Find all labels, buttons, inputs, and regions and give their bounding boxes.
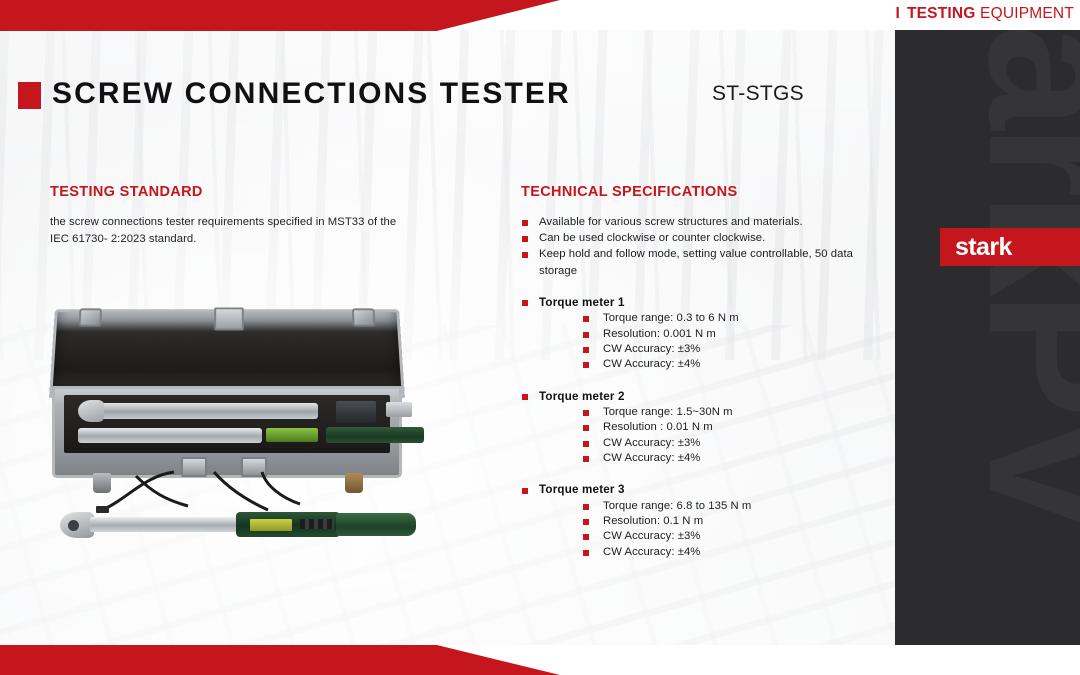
case-body	[52, 386, 402, 478]
header-tick-mark: I	[895, 5, 900, 23]
case-corner-icon	[352, 308, 376, 326]
technical-specifications-heading: TECHNICAL SPECIFICATIONS	[521, 184, 738, 200]
torque-meter-title: Torque meter 3	[521, 482, 871, 499]
green-accessory-tool	[266, 428, 318, 442]
header-brand-label: ITESTING EQUIPMENT	[895, 5, 1080, 23]
bottom-red-banner	[0, 645, 560, 675]
title-square-marker-icon	[18, 82, 41, 109]
torque-meter-spec: CW Accuracy: ±4%	[521, 357, 871, 372]
title-row: SCREW CONNECTIONS TESTER ST-STGS	[0, 72, 895, 120]
brand-sidebar: starkPV stark	[895, 30, 1080, 645]
green-handle-tool	[326, 427, 424, 443]
torque-meter-spec: CW Accuracy: ±3%	[521, 342, 871, 357]
torque-meter-spec: Resolution : 0.01 N m	[521, 420, 871, 435]
torque-meter-spec: Torque range: 6.8 to 135 N m	[521, 499, 871, 514]
digital-torque-wrench	[60, 508, 416, 542]
case-lid	[49, 309, 405, 398]
case-latch-icon	[214, 307, 244, 330]
spec-feature-item: Can be used clockwise or counter clockwi…	[521, 230, 871, 246]
wrench-ratchet-head	[60, 512, 94, 538]
brand-logo-text: stark	[940, 228, 1012, 266]
testing-standard-body: the screw connections tester requirement…	[50, 214, 410, 247]
wrench-display-screen	[250, 519, 292, 531]
top-red-banner	[0, 0, 560, 31]
display-unit-tool	[336, 401, 376, 423]
spec-feature-item: Keep hold and follow mode, setting value…	[521, 246, 871, 278]
torque-meter-group: Torque meter 2 Torque range: 1.5~30N m R…	[521, 389, 871, 467]
model-number: ST-STGS	[712, 72, 804, 116]
case-corner-icon	[78, 308, 102, 326]
spec-feature-item: Available for various screw structures a…	[521, 214, 871, 230]
extension-bar-tool	[78, 428, 262, 443]
datasheet-page: ITESTING EQUIPMENT SCREW CONNECTIONS TES…	[0, 0, 1080, 675]
torque-meter-spec: Resolution: 0.001 N m	[521, 327, 871, 342]
torque-meter-group: Torque meter 3 Torque range: 6.8 to 135 …	[521, 482, 871, 560]
torque-meter-group: Torque meter 1 Torque range: 0.3 to 6 N …	[521, 295, 871, 373]
product-photo	[38, 300, 438, 562]
torque-meter-spec: CW Accuracy: ±3%	[521, 529, 871, 544]
torque-meter-spec: CW Accuracy: ±4%	[521, 451, 871, 466]
torque-meter-title: Torque meter 2	[521, 389, 871, 406]
header-label-bold: TESTING	[907, 5, 976, 22]
wrench-shaft	[90, 517, 240, 532]
torque-meter-title: Torque meter 1	[521, 295, 871, 312]
torque-meter-spec: Torque range: 0.3 to 6 N m	[521, 311, 871, 326]
testing-standard-heading: TESTING STANDARD	[50, 184, 203, 200]
page-title: SCREW CONNECTIONS TESTER	[52, 72, 571, 116]
torque-meter-spec: CW Accuracy: ±3%	[521, 436, 871, 451]
header-label-light: EQUIPMENT	[980, 5, 1074, 22]
case-foam-insert	[64, 395, 390, 453]
torque-meter-spec: Resolution: 0.1 N m	[521, 514, 871, 529]
small-accessory-tool	[386, 402, 412, 417]
torque-meter-spec: Torque range: 1.5~30N m	[521, 405, 871, 420]
wrench-grip	[336, 513, 416, 536]
ratchet-wrench-tool	[96, 403, 318, 419]
technical-specifications-list: Available for various screw structures a…	[521, 214, 871, 560]
brand-logo: stark	[940, 228, 1080, 266]
torque-meter-spec: CW Accuracy: ±4%	[521, 545, 871, 560]
wrench-keypad	[300, 519, 334, 529]
